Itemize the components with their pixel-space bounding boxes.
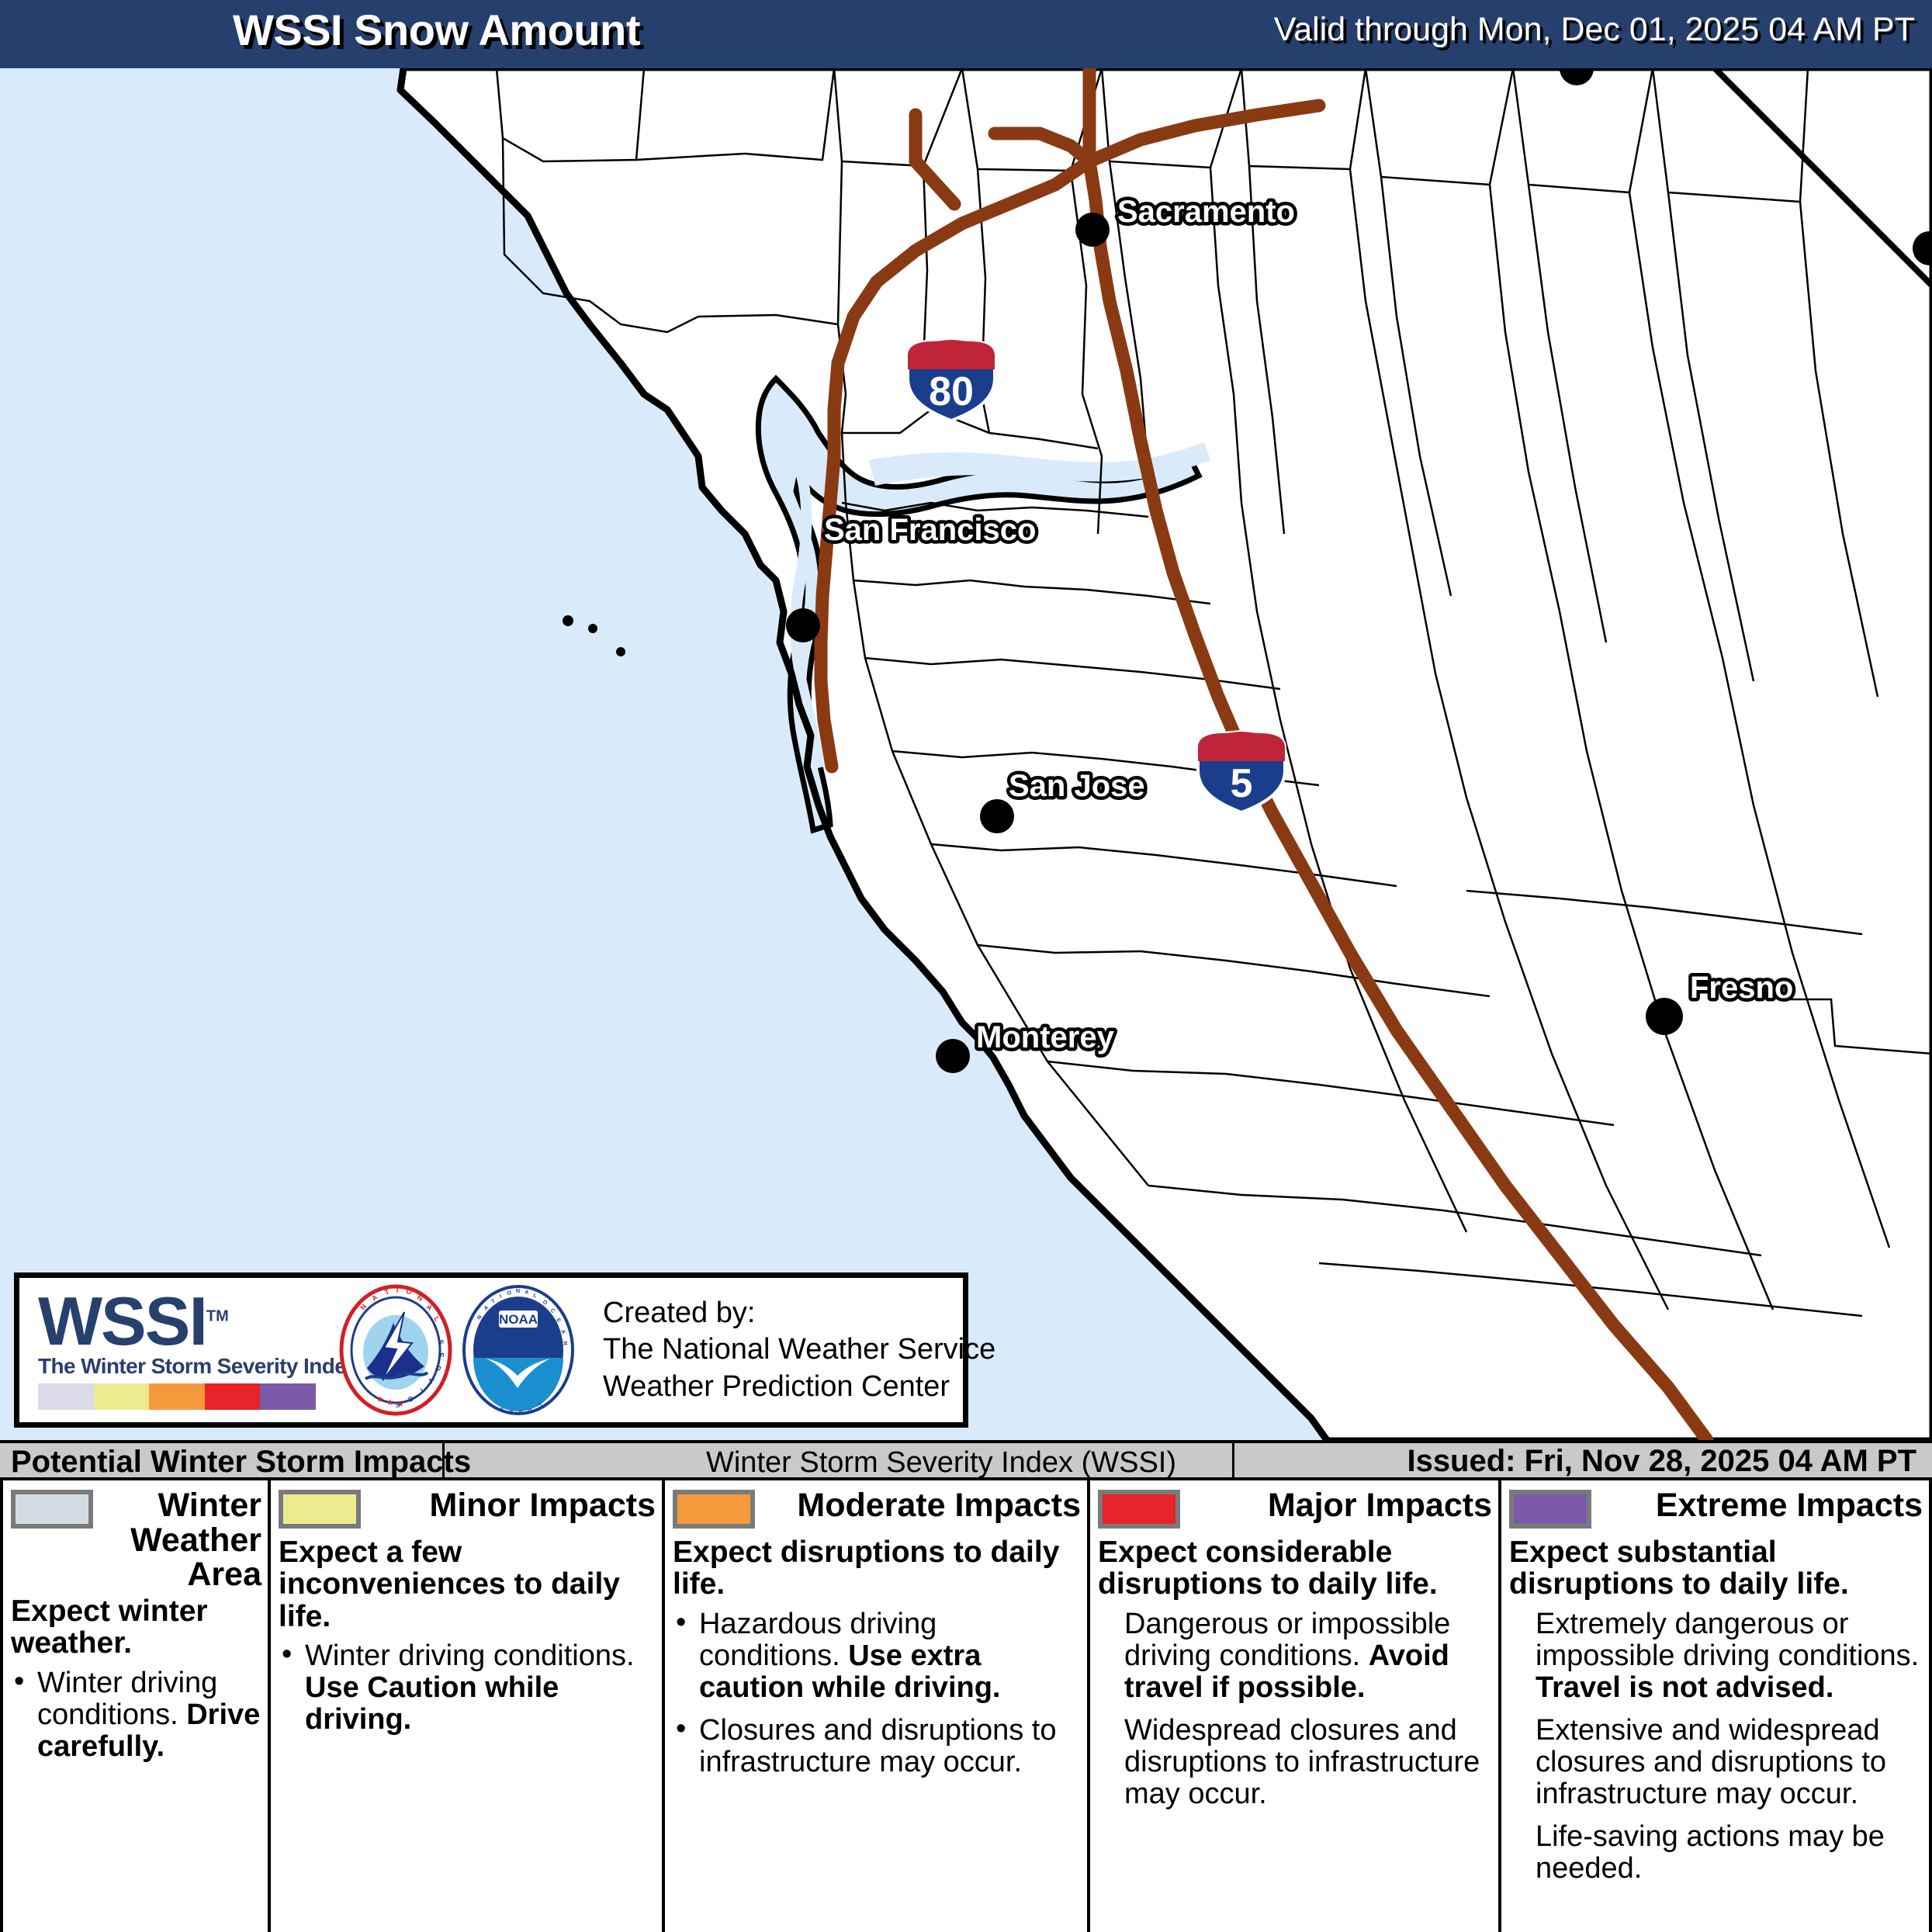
legend-bullet-item: Winter driving conditions. Use Caution w…	[279, 1640, 656, 1736]
svg-text:D: D	[518, 1409, 523, 1414]
legend-swatch-minor-impacts	[279, 1490, 361, 1529]
wssi-color-bar	[38, 1383, 316, 1410]
legend-column-major-impacts[interactable]: Major Impacts Expect considerable disrup…	[1087, 1480, 1498, 1932]
noaa-seal: NOAA N A T I O N A L O C E A N U S D O	[460, 1284, 576, 1416]
legend-bullet-item: Widespread closures and disruptions to i…	[1098, 1715, 1492, 1810]
city-dot-monterey[interactable]	[936, 1039, 970, 1073]
legend-column-minor-impacts[interactable]: Minor Impacts Expect a few inconvenience…	[268, 1480, 662, 1932]
legend-bullets-moderate-impacts: Hazardous driving conditions. Use extra …	[673, 1608, 1081, 1778]
shield-label-80: 80	[929, 369, 974, 414]
svg-text:N: N	[516, 1289, 520, 1294]
national-weather-service-seal: N A T I O N A L S E R V I C E ★★★	[338, 1284, 454, 1416]
offshore-island	[616, 647, 625, 656]
status-left-label: Potential Winter Storm Impacts	[11, 1445, 471, 1480]
created-by-block: Created by: The National Weather Service…	[603, 1295, 995, 1404]
legend-bullet-item: Dangerous or impossible driving conditio…	[1098, 1608, 1492, 1704]
svg-text:★: ★	[396, 1400, 404, 1409]
legend-swatch-moderate-impacts	[673, 1490, 755, 1529]
legend-subtitle-winter-weather-area: Expect winter weather.	[11, 1595, 261, 1660]
status-right-label: Issued: Fri, Nov 28, 2025 04 AM PT	[1407, 1444, 1916, 1479]
legend-subtitle-extreme-impacts: Expect substantial disruptions to daily …	[1509, 1536, 1923, 1601]
created-by-line-3: Weather Prediction Center	[603, 1369, 995, 1405]
offshore-island	[588, 624, 597, 633]
legend-bullet-item: Life-saving actions may be needed.	[1509, 1821, 1923, 1885]
svg-text:S: S	[509, 1409, 513, 1414]
svg-text:★: ★	[386, 1398, 394, 1407]
city-label-san-jose: San Jose	[1009, 769, 1145, 803]
city-label-sacramento: Sacramento	[1117, 195, 1295, 229]
color-swatch-winter-weather	[38, 1383, 94, 1410]
page-title: WSSI Snow Amount	[233, 5, 640, 55]
city-label-monterey: Monterey	[976, 1020, 1115, 1054]
city-label-fresno: Fresno	[1690, 971, 1793, 1005]
wssi-logo-box: WSSITM The Winter Storm Severity Index N…	[14, 1272, 968, 1428]
status-divider-2	[1232, 1443, 1234, 1479]
legend-column-winter-weather-area[interactable]: Winter Weather Area Expect winter weathe…	[0, 1480, 268, 1932]
offshore-island	[563, 615, 573, 626]
status-strip: Potential Winter Storm Impacts Winter St…	[0, 1440, 1932, 1480]
created-by-line-2: The National Weather Service	[603, 1331, 995, 1368]
legend-column-moderate-impacts[interactable]: Moderate Impacts Expect disruptions to d…	[662, 1480, 1087, 1932]
agency-seals: N A T I O N A L S E R V I C E ★★★	[338, 1284, 576, 1416]
wssi-wordmark: WSSITM	[38, 1290, 330, 1353]
legend-bullets-minor-impacts: Winter driving conditions. Use Caution w…	[279, 1640, 656, 1736]
status-divider-1	[442, 1443, 445, 1479]
created-by-line-1: Created by:	[603, 1295, 995, 1331]
shield-label-5: 5	[1231, 761, 1253, 806]
legend-swatch-major-impacts	[1098, 1490, 1180, 1529]
title-bar: WSSI Snow Amount Valid through Mon, Dec …	[0, 0, 1932, 68]
status-center-label: Winter Storm Severity Index (WSSI)	[706, 1446, 1176, 1480]
legend-bullet-item: Extremely dangerous or impossible drivin…	[1509, 1608, 1923, 1704]
valid-through-text: Valid through Mon, Dec 01, 2025 04 AM PT	[1274, 11, 1915, 49]
color-swatch-minor	[94, 1383, 150, 1410]
legend-swatch-winter-weather-area	[11, 1490, 93, 1529]
legend-subtitle-moderate-impacts: Expect disruptions to daily life.	[673, 1536, 1081, 1601]
svg-text:★: ★	[376, 1395, 384, 1404]
legend-swatch-extreme-impacts	[1509, 1490, 1591, 1529]
legend-bullets-winter-weather-area: Winter driving conditions. Drive careful…	[11, 1667, 261, 1763]
city-dot-sacramento[interactable]	[1075, 213, 1110, 247]
city-dot-san-jose[interactable]	[980, 799, 1014, 833]
legend-bullet-item: Extensive and widespread closures and di…	[1509, 1715, 1923, 1810]
legend-subtitle-major-impacts: Expect considerable disruptions to daily…	[1098, 1536, 1492, 1601]
legend-bullets-extreme-impacts: Extremely dangerous or impossible drivin…	[1509, 1608, 1923, 1885]
city-label-san-francisco: San Francisco	[824, 513, 1036, 547]
color-swatch-moderate	[149, 1383, 205, 1410]
city-dot-fresno[interactable]	[1646, 998, 1683, 1035]
impact-legend: Winter Weather Area Expect winter weathe…	[0, 1480, 1932, 1932]
wssi-wordmark-text: WSSI	[38, 1283, 206, 1359]
legend-column-extreme-impacts[interactable]: Extreme Impacts Expect substantial disru…	[1498, 1480, 1932, 1932]
city-dot-san-francisco[interactable]	[786, 608, 820, 642]
legend-bullet-item: Winter driving conditions. Drive careful…	[11, 1667, 261, 1763]
color-swatch-major	[205, 1383, 261, 1410]
legend-bullet-item: Hazardous driving conditions. Use extra …	[673, 1608, 1081, 1704]
trademark-mark: TM	[206, 1307, 229, 1324]
svg-text:E: E	[437, 1352, 445, 1358]
legend-subtitle-minor-impacts: Expect a few inconveniences to daily lif…	[279, 1536, 656, 1633]
color-swatch-extreme	[260, 1383, 316, 1410]
legend-bullet-item: Closures and disruptions to infrastructu…	[673, 1715, 1081, 1778]
weather-map[interactable]: 80 5 Sacramento San Francisco San Jose F…	[0, 68, 1932, 1440]
svg-text:NOAA: NOAA	[499, 1312, 538, 1327]
wssi-brand: WSSITM The Winter Storm Severity Index	[19, 1290, 330, 1411]
legend-bullets-major-impacts: Dangerous or impossible driving conditio…	[1098, 1608, 1492, 1810]
